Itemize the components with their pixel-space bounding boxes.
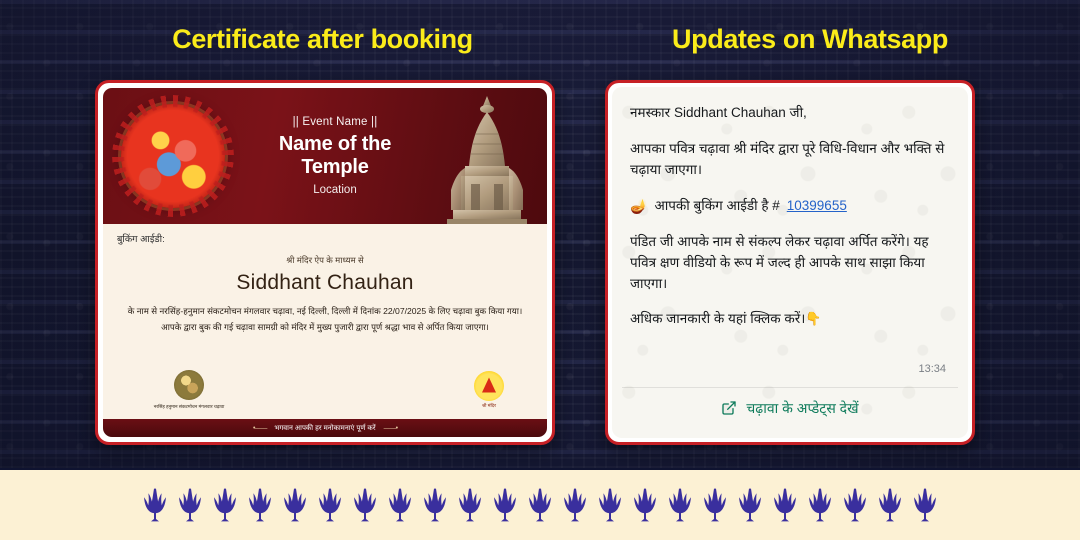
event-name: || Event Name || [243,116,427,128]
certificate-ribbon: •—— भगवान आपकी हर मनोकामनाएं पूर्ण करें … [103,419,547,437]
trident-icon [388,488,412,522]
trident-icon [213,488,237,522]
shri-mandir-logo-icon [474,371,504,401]
trident-icon [528,488,552,522]
external-link-icon [721,400,737,416]
certificate-header-text: || Event Name || Name of the Temple Loca… [243,116,427,196]
trident-icon [843,488,867,522]
trident-icon [738,488,762,522]
booking-id-label: बुकिंग आईडी: [117,232,533,245]
temple-illustration-icon [431,94,543,224]
trident-icon [668,488,692,522]
certificate-inner: || Event Name || Name of the Temple Loca… [103,88,547,437]
trident-icon [353,488,377,522]
ribbon-dash-right: ——• [384,425,397,432]
certificate-body: बुकिंग आईडी: श्री मंदिर ऐप के माध्यम से … [103,224,547,437]
trident-icon [878,488,902,522]
deity-medallion-icon [121,104,225,208]
point-down-icon: 👇 [805,311,821,326]
view-updates-label: चढ़ावा के अप्डेट्स देखें [746,399,858,418]
heading-certificate: Certificate after booking [60,24,585,55]
diya-icon: 🪔 [630,199,647,213]
booking-id-prefix: आपकी बुकिंग आईडी है # [654,196,779,217]
whatsapp-greeting: नमस्कार Siddhant Chauhan जी, [630,103,950,124]
whatsapp-paragraph-1: आपका पवित्र चढ़ावा श्री मंदिर द्वारा पूर… [630,139,950,181]
prasad-seal-icon [174,370,204,400]
heading-whatsapp: Updates on Whatsapp [585,24,1035,55]
trident-icon [808,488,832,522]
trident-icon [423,488,447,522]
trident-icon [248,488,272,522]
whatsapp-paragraph-3-wrap: अधिक जानकारी के यहां क्लिक करें।👇 [630,309,950,330]
certificate-paragraph: के नाम से नरसिंह-हनुमान संकटमोचन मंगलवार… [117,304,533,336]
view-updates-button[interactable]: चढ़ावा के अप्डेट्स देखें [622,388,958,428]
trident-icon [703,488,727,522]
trident-icon [178,488,202,522]
trident-icon [458,488,482,522]
seal-right: श्री मंदिर [461,371,517,409]
certificate-card[interactable]: || Event Name || Name of the Temple Loca… [95,80,555,445]
certificate-seals: नरसिंह हनुमान संकटमोचन मंगलवार चढ़ावा श्… [103,349,547,411]
seal-left-caption: नरसिंह हनुमान संकटमोचन मंगलवार चढ़ावा [129,404,249,411]
temple-location: Location [243,184,427,196]
trident-footer-strip [0,468,1080,540]
trident-icon [493,488,517,522]
whatsapp-booking-line: 🪔 आपकी बुकिंग आईडी है # 10399655 [630,196,950,217]
whatsapp-message-bubble: नमस्कार Siddhant Chauhan जी, आपका पवित्र… [612,87,968,438]
booking-id-link[interactable]: 10399655 [787,196,847,217]
trident-icon [598,488,622,522]
whatsapp-timestamp: 13:34 [918,363,946,375]
whatsapp-paragraph-2: पंडित जी आपके नाम से संकल्प लेकर चढ़ावा … [630,232,950,295]
seal-left: नरसिंह हनुमान संकटमोचन मंगलवार चढ़ावा [129,370,249,411]
trident-icon [913,488,937,522]
trident-icon [143,488,167,522]
trident-icon [633,488,657,522]
trident-icon [318,488,342,522]
trident-icon [773,488,797,522]
ribbon-text: भगवान आपकी हर मनोकामनाएं पूर्ण करें [274,424,375,433]
temple-name: Name of the Temple [243,133,427,179]
certificate-via-line: श्री मंदिर ऐप के माध्यम से [117,255,533,266]
ribbon-dash-left: •—— [253,425,266,432]
trident-icon [563,488,587,522]
trident-icon [283,488,307,522]
whatsapp-card[interactable]: नमस्कार Siddhant Chauhan जी, आपका पवित्र… [605,80,975,445]
whatsapp-paragraph-3: अधिक जानकारी के यहां क्लिक करें। [630,311,805,326]
certificate-person-name: Siddhant Chauhan [117,271,533,295]
certificate-header-band: || Event Name || Name of the Temple Loca… [103,88,547,224]
seal-right-caption: श्री मंदिर [461,403,517,409]
